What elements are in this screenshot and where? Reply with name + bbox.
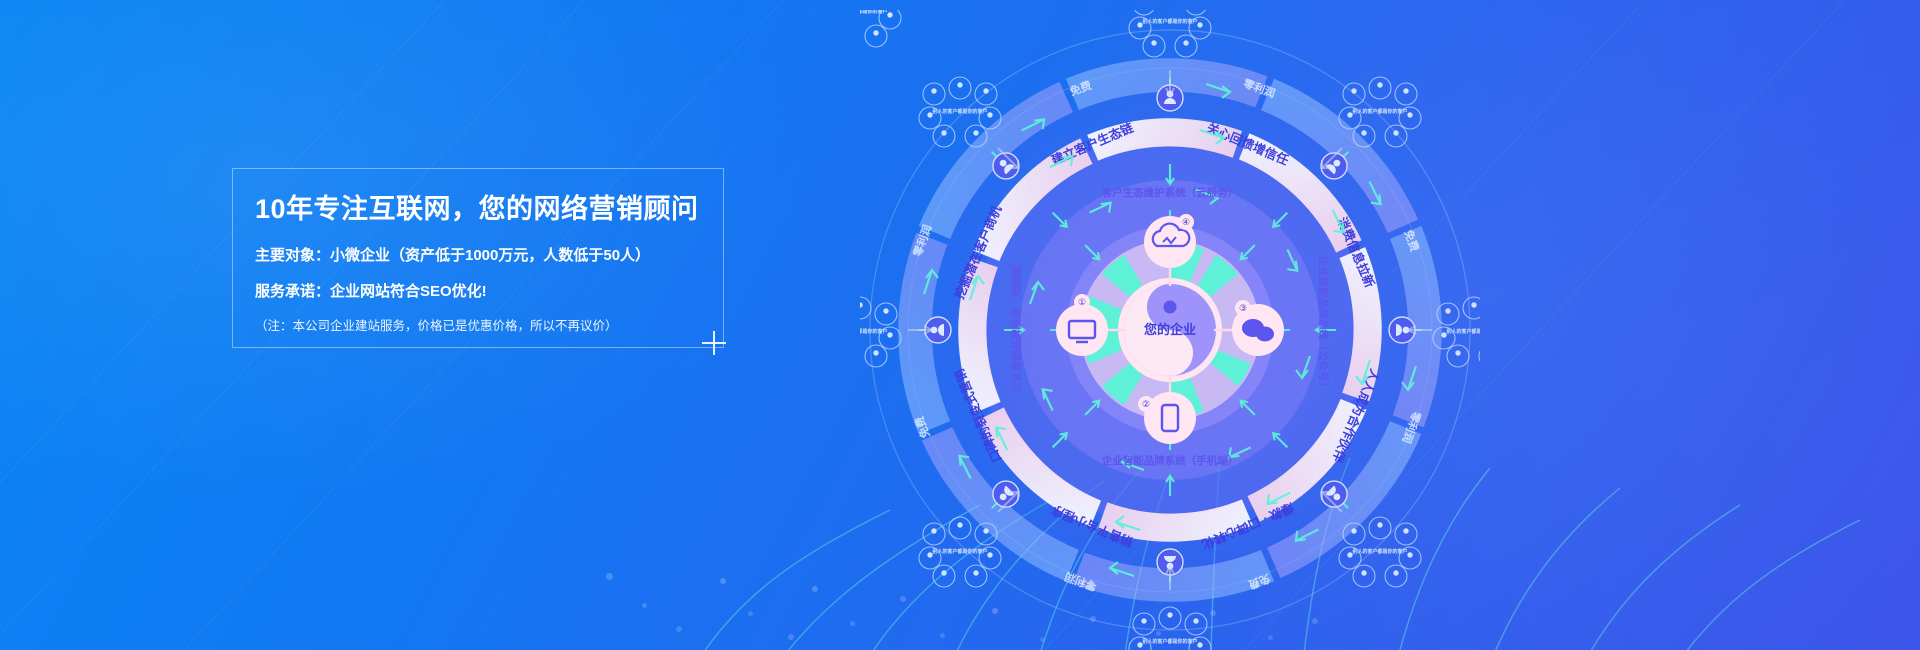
node-mobile-label: 企业智能品牌系统（手机端） (1101, 454, 1239, 467)
center-label: 您的企业 (1144, 322, 1196, 337)
page-title: 10年专注互联网，您的网络营销顾问 (255, 195, 723, 225)
ecosystem-wheel-diagram: 免费 零利润 免费 零利润 免费 零利润 免费 零利润 (860, 10, 1480, 650)
promo-banner: 10年专注互联网，您的网络营销顾问 主要对象：小微企业（资产低于1000万元，人… (0, 0, 1920, 650)
node-cloud-label: 客户生态维护系统（云服务） (1101, 186, 1239, 199)
node-index-3: ③ (1239, 303, 1247, 313)
node-monitor-caption: 企业智能品牌系统（电脑端） (1010, 256, 1023, 394)
node-chat-caption: 企业智能品牌系统（公众号） (1317, 255, 1330, 393)
cluster-caption: 别人的客户都是你的客户 (860, 10, 888, 15)
price-note: （注：本公司企业建站服务，价格已是优惠价格，所以不再议价） (255, 319, 723, 334)
target-audience-line: 主要对象：小微企业（资产低于1000万元，人数低于50人） (255, 247, 723, 265)
node-index-1: ① (1078, 297, 1086, 307)
node-monitor-label: 企业智能品牌系统（电脑端） (1010, 256, 1023, 394)
node-chat-label: 企业智能品牌系统（公众号） (1317, 255, 1330, 393)
node-index-4: ④ (1182, 217, 1190, 227)
service-promise-line: 服务承诺：企业网站符合SEO优化! (255, 283, 723, 301)
promo-copy-box: 10年专注互联网，您的网络营销顾问 主要对象：小微企业（资产低于1000万元，人… (232, 168, 724, 348)
node-index-2: ② (1142, 399, 1150, 409)
